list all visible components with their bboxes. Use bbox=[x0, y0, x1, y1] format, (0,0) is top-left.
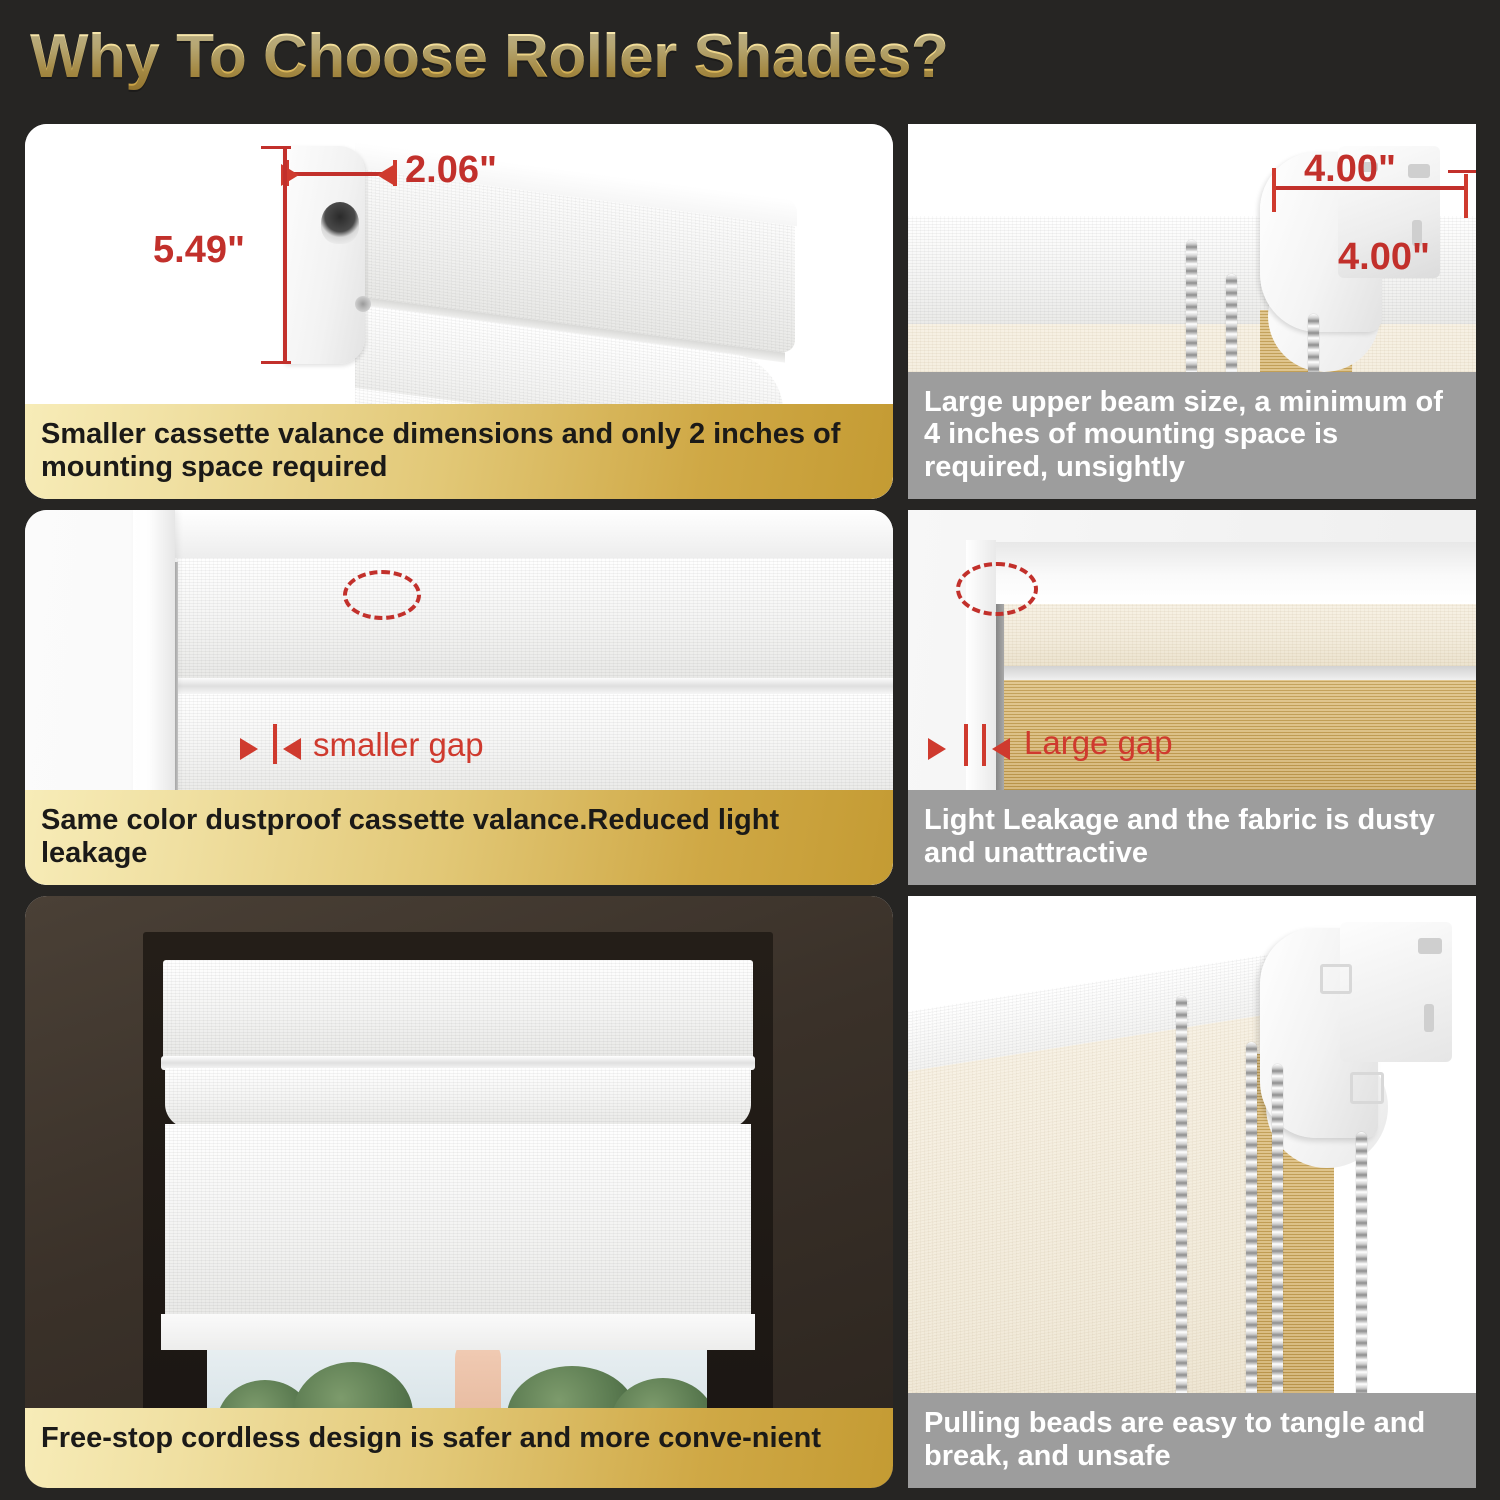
gap-arrow-right bbox=[992, 738, 1010, 760]
panel-bottom-left: Free-stop cordless design is safer and m… bbox=[25, 896, 893, 1488]
width-dimension-label: 4.00" bbox=[1304, 148, 1396, 191]
panel-bottom-left-caption: Free-stop cordless design is safer and m… bbox=[25, 1408, 893, 1488]
gap-callout-label: smaller gap bbox=[313, 726, 484, 764]
upper-fabric bbox=[996, 604, 1476, 666]
highlight-ellipse-icon bbox=[343, 570, 421, 620]
head-rail bbox=[966, 542, 1476, 604]
shade-fabric bbox=[165, 1124, 751, 1324]
valance-fabric bbox=[177, 558, 893, 682]
height-tick-top bbox=[1448, 170, 1476, 173]
width-tick-right bbox=[1464, 174, 1468, 218]
panel-bottom-right: Pulling beads are easy to tangle and bre… bbox=[908, 896, 1476, 1488]
roller-tube bbox=[165, 1068, 751, 1128]
bracket-slot-1 bbox=[1408, 164, 1430, 178]
gap-callout-label: Large gap bbox=[1024, 724, 1173, 762]
width-tick-left bbox=[1272, 168, 1276, 212]
gap-tick-2 bbox=[982, 724, 986, 766]
window-frame-top bbox=[133, 510, 893, 558]
panel-top-right-caption: Large upper beam size, a minimum of 4 in… bbox=[908, 372, 1476, 499]
height-dimension-label: 5.49" bbox=[153, 229, 245, 272]
comparison-grid: 2.06" 5.49" Smaller cassette valance dim… bbox=[0, 112, 1500, 1500]
gap-arrow-right bbox=[283, 738, 301, 760]
bracket-hook-icon bbox=[1320, 964, 1352, 994]
header: Why To Choose Roller Shades? bbox=[0, 0, 1500, 112]
screw-icon bbox=[355, 296, 371, 312]
height-tick-top bbox=[261, 146, 291, 149]
panel-top-right: 4.00" 4.00" Large upper beam size, a min… bbox=[908, 124, 1476, 499]
height-dimension-line bbox=[283, 146, 287, 364]
width-dimension-label: 2.06" bbox=[405, 149, 497, 192]
height-dimension-label: 4.00" bbox=[1338, 236, 1430, 279]
panel-bottom-left-image bbox=[25, 896, 893, 1488]
panel-top-left-caption: Smaller cassette valance dimensions and … bbox=[25, 404, 893, 499]
panel-bottom-right-caption: Pulling beads are easy to tangle and bre… bbox=[908, 1393, 1476, 1488]
gap-tick-1 bbox=[964, 724, 968, 766]
cassette-valance bbox=[163, 960, 753, 1060]
gap-tick bbox=[273, 724, 277, 764]
panel-middle-left: smaller gap Same color dustproof cassett… bbox=[25, 510, 893, 885]
bracket-slot-2 bbox=[1424, 1004, 1434, 1032]
highlight-ellipse-icon bbox=[956, 562, 1038, 616]
page-title: Why To Choose Roller Shades? bbox=[30, 21, 948, 92]
panel-middle-left-caption: Same color dustproof cassette valance.Re… bbox=[25, 790, 893, 885]
rail-shadow bbox=[996, 666, 1476, 680]
gap-arrow-left bbox=[928, 738, 946, 760]
width-arrow-right bbox=[377, 164, 395, 186]
bracket-hook-icon bbox=[1350, 1072, 1384, 1104]
valance-bar bbox=[175, 678, 893, 694]
height-tick-bottom bbox=[261, 361, 291, 364]
panel-middle-right: Large gap Light Leakage and the fabric i… bbox=[908, 510, 1476, 885]
gap-arrow-left bbox=[240, 738, 258, 760]
panel-middle-right-caption: Light Leakage and the fabric is dusty an… bbox=[908, 790, 1476, 885]
bracket-slot-1 bbox=[1418, 938, 1442, 954]
bottom-rail bbox=[161, 1314, 755, 1350]
panel-top-left: 2.06" 5.49" Smaller cassette valance dim… bbox=[25, 124, 893, 499]
free-stop-knob bbox=[321, 202, 359, 244]
